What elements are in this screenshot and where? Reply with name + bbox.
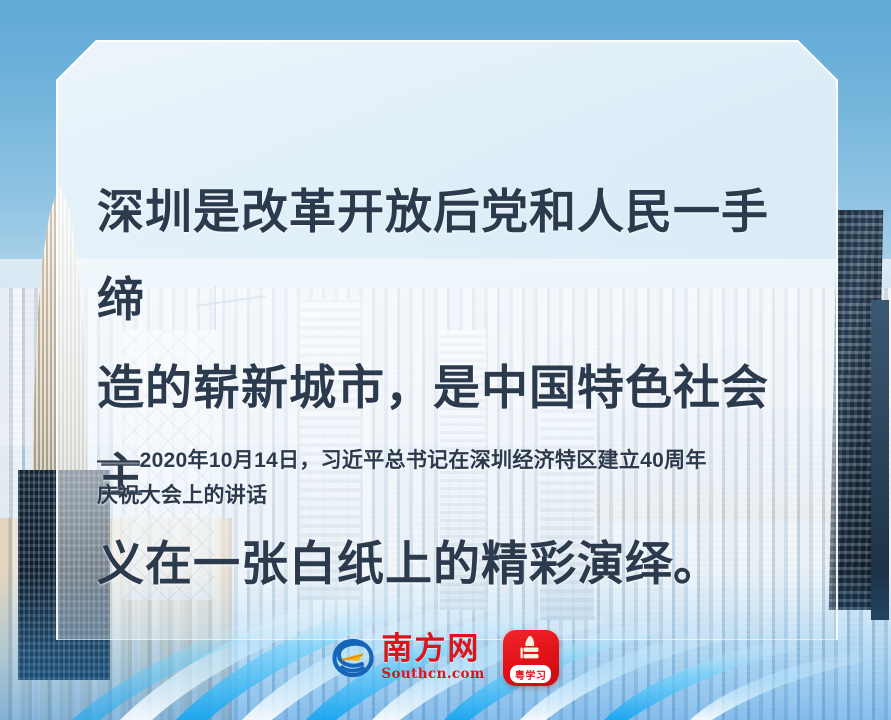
yuexuexi-app-icon[interactable]: 粤学习 (503, 630, 559, 686)
quote-text: 深圳是改革开放后党和人民一手缔 造的崭新城市，是中国特色社会主 义在一张白纸上的… (97, 168, 797, 608)
southcn-swoosh-icon (332, 637, 374, 679)
southcn-name-cn: 南方网 (381, 634, 480, 665)
quote-attribution: ——2020年10月14日，习近平总书记在深圳经济特区建立40周年 庆祝大会上的… (97, 443, 797, 513)
logo-row: 南方网 Southcn.com 粤学习 (0, 630, 891, 686)
southcn-wordmark: 南方网 Southcn.com (381, 634, 484, 682)
poster-canvas: 深圳是改革开放后党和人民一手缔 造的崭新城市，是中国特色社会主 义在一张白纸上的… (0, 0, 891, 720)
southcn-logo[interactable]: 南方网 Southcn.com (332, 634, 484, 682)
southcn-name-en: Southcn.com (381, 668, 484, 682)
yuexuexi-label: 粤学习 (510, 665, 552, 683)
yuexuexi-book-glyph (516, 635, 546, 662)
